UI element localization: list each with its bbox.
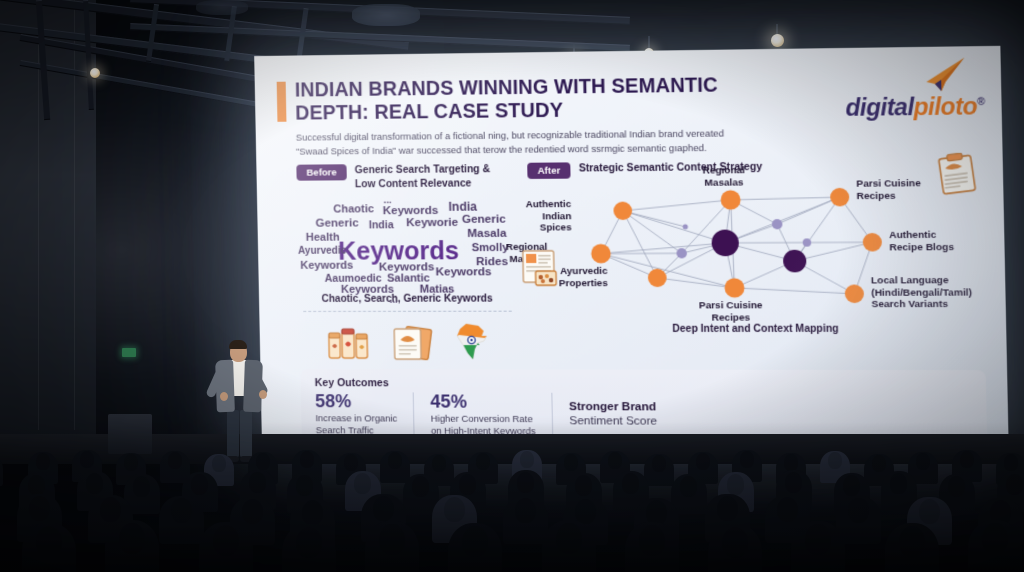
graph-node-label-line: (Hindi/Bengali/Tamil): [871, 287, 972, 299]
audience-member-head: [168, 452, 182, 469]
presenter-hair: [229, 340, 247, 349]
audience-member-head: [740, 451, 754, 468]
graph-node-label: Parsi CuisineRecipes: [856, 179, 921, 203]
slide-columns: Before Generic Search Targeting & Low Co…: [296, 159, 985, 362]
audience-member-head: [124, 454, 138, 471]
audience-member-head: [982, 523, 1008, 554]
audience-member-head: [919, 499, 940, 524]
presenter-jacket-left: [215, 360, 235, 413]
ceiling-panel: [352, 4, 420, 26]
graph-edge: [623, 200, 731, 211]
keyword-cloud-word: Keywords: [341, 284, 394, 296]
audience-member-body: [0, 454, 3, 486]
india-map-flag-icon: [453, 322, 490, 362]
audience-member-head: [1004, 454, 1018, 471]
graph-node-label-line: Parsi Cuisine: [856, 179, 921, 191]
audience-member-head: [727, 474, 744, 495]
audience-member-head: [652, 455, 666, 472]
audience-member-head: [717, 496, 738, 521]
subtitle-line-1: Successful digital transformation of a f…: [296, 128, 724, 143]
after-caption: Deep Intent and Context Mapping: [530, 324, 985, 335]
after-tag: After: [527, 163, 571, 180]
graph-node-label: AuthenticRecipe Blogs: [889, 230, 954, 254]
graph-node-label-line: Recipes: [712, 312, 751, 323]
audience-member-head: [432, 455, 446, 472]
recipe-documents-icon: [390, 324, 435, 362]
keyword-cloud-word: Keywords: [383, 205, 439, 217]
keyword-cloud-word: Chaotic: [333, 203, 374, 215]
audience-member-head: [517, 472, 534, 493]
keyword-cloud-word: Health: [306, 232, 340, 244]
audience-member-head: [300, 451, 314, 468]
spice-jars-icon: [326, 324, 373, 362]
keyword-cloud-word: Generic: [462, 214, 506, 226]
audience-member-head: [872, 455, 886, 472]
audience-member-head: [784, 454, 798, 471]
audience-member-head: [256, 453, 270, 470]
graph-node[interactable]: [683, 225, 688, 230]
graph-node-label-line: Regional: [703, 166, 746, 178]
audience-member-head: [191, 474, 208, 495]
graph-node[interactable]: [711, 230, 739, 257]
keyword-cloud-word: India: [448, 200, 477, 214]
graph-node[interactable]: [863, 233, 882, 252]
graph-node-label: RegionalMasalas: [703, 166, 746, 190]
subtitle-line-2: "Swaad Spices of India" war successed th…: [296, 142, 707, 157]
graph-node-label-line: Recipes: [856, 191, 895, 203]
audience-member-head: [608, 452, 622, 469]
audience-member-head: [444, 497, 465, 522]
logo-registered-mark: ®: [977, 97, 985, 108]
key-outcome-number: 58%: [315, 392, 397, 411]
graph-node-label-line: Authentic: [889, 230, 936, 242]
keyword-cloud-word: Ayurvedic: [298, 246, 346, 257]
before-heading: Generic Search Targeting & Low Content R…: [355, 164, 491, 192]
audience-member-head: [459, 474, 476, 495]
logo-word-piloto: piloto: [913, 93, 977, 121]
newspaper-spices-icon: [521, 248, 569, 289]
presenter-right-hand: [259, 390, 267, 399]
stage-light: [90, 68, 100, 78]
audience-member-head: [36, 526, 62, 557]
keyword-cloud-word: India: [369, 219, 394, 231]
presenter-left-hand: [220, 392, 228, 401]
audience: [0, 422, 1024, 572]
audience-member-head: [354, 473, 371, 494]
audience-member-head: [36, 453, 50, 470]
title-accent-bar: [277, 82, 287, 122]
audience-member-head: [86, 473, 103, 494]
audience-member-head: [171, 498, 192, 523]
keyword-cloud-word: Smolly: [472, 242, 509, 254]
key-outcome-highlight-line-1: Stronger Brand: [569, 401, 657, 415]
key-outcomes-title: Key Outcomes: [315, 377, 972, 391]
slide-title: INDIAN BRANDS WINNING WITH SEMANTIC DEPT…: [295, 74, 777, 125]
truss-post: [36, 0, 50, 120]
graph-node-label-line: Local Language: [871, 275, 949, 287]
audience-member-head: [476, 453, 490, 470]
before-column: Before Generic Search Targeting & Low Co…: [296, 163, 517, 362]
presentation-slide: digitalpiloto® INDIAN BRANDS WINNING WIT…: [254, 46, 1008, 442]
audience-member-head: [520, 451, 534, 468]
audience-member-head: [29, 496, 50, 521]
audience-member-head: [575, 475, 592, 496]
projection-screen: digitalpiloto® INDIAN BRANDS WINNING WIT…: [254, 46, 1008, 442]
audience-member-head: [777, 497, 798, 522]
ceiling-panel: [196, 0, 248, 15]
graph-edge: [623, 211, 657, 278]
graph-node-label-line: Indian Spices: [540, 211, 572, 234]
keyword-cloud-word: Masala: [467, 228, 506, 240]
graph-node[interactable]: [724, 279, 744, 298]
audience-member-head: [373, 496, 394, 521]
graph-node-label: Parsi CuisineRecipes: [699, 301, 763, 325]
audience-member-head: [1006, 474, 1023, 495]
audience-member-head: [805, 524, 831, 555]
audience-member-head: [556, 523, 582, 554]
before-header: Before Generic Search Targeting & Low Co…: [296, 163, 513, 191]
audience-member-head: [296, 475, 313, 496]
keyword-cloud: ...ChaoticKeywordsIndiaGenericIndiaKeywo…: [297, 194, 516, 292]
audience-member-head: [622, 473, 639, 494]
audience-member-head: [948, 476, 965, 497]
graph-edge: [601, 254, 735, 289]
audience-member-head: [80, 451, 94, 468]
audience-member-head: [916, 453, 930, 470]
stage-light: [771, 34, 784, 47]
audience-member-head: [680, 476, 697, 497]
audience-member-head: [388, 452, 402, 469]
before-heading-line-1: Generic Search Targeting &: [355, 165, 490, 177]
graph-node[interactable]: [613, 202, 632, 220]
audience-member-head: [828, 452, 842, 469]
audience-member-head: [28, 475, 45, 496]
audience-member-head: [212, 455, 226, 472]
keyword-cloud-word: Keywords: [300, 260, 353, 272]
keyword-cloud-word: Keywords: [435, 266, 491, 278]
graph-node-label-line: Parsi Cuisine: [699, 301, 763, 312]
key-outcome-number: 45%: [430, 392, 535, 411]
audience-member-head: [639, 525, 665, 556]
audience-member-head: [100, 497, 121, 522]
after-column: After Strategic Semantic Content Strateg…: [527, 159, 985, 362]
graph-edge: [623, 211, 686, 228]
logo-word-digital: digital: [845, 93, 914, 121]
audience-member-head: [302, 500, 323, 525]
graph-node[interactable]: [783, 250, 807, 273]
audience-member-head: [379, 524, 405, 555]
audience-member-head: [119, 523, 145, 554]
before-icon-row: [299, 322, 516, 363]
logo-wordmark: digitalpiloto®: [845, 93, 984, 122]
audience-member-head: [785, 472, 802, 493]
audience-member-head: [564, 454, 578, 471]
audience-member-head: [843, 475, 860, 496]
brand-logo: digitalpiloto®: [845, 56, 985, 122]
keyword-cloud-word: Generic: [315, 217, 358, 229]
audience-member-head: [242, 499, 263, 524]
before-heading-line-2: Low Content Relevance: [355, 178, 472, 190]
audience-member-head: [696, 453, 710, 470]
truss-post: [83, 0, 94, 110]
graph-node-label-line: Search Variants: [871, 299, 948, 310]
graph-node[interactable]: [830, 188, 849, 207]
audience-member-head: [848, 498, 869, 523]
presenter-jacket-right: [243, 360, 263, 413]
recipe-clipboard-icon: [936, 153, 984, 197]
graph-edge: [735, 288, 855, 294]
keyword-cloud-word: ...: [389, 295, 397, 306]
graph-node[interactable]: [845, 285, 864, 304]
conference-stage-scene: digitalpiloto® INDIAN BRANDS WINNING WIT…: [0, 0, 1024, 572]
audience-member-head: [890, 473, 907, 494]
graph-edge: [731, 198, 840, 201]
before-tag: Before: [296, 165, 347, 181]
audience-member-head: [722, 527, 748, 558]
graph-edge: [657, 278, 734, 288]
audience-member-head: [344, 454, 358, 471]
graph-node-label: AuthenticIndian Spices: [526, 199, 572, 234]
paper-plane-icon: [909, 57, 969, 93]
audience-member-head: [515, 498, 536, 523]
graph-node-label-line: Masalas: [704, 177, 743, 189]
audience-member-head: [462, 526, 488, 557]
graph-node[interactable]: [721, 191, 741, 211]
after-header: After Strategic Semantic Content Strateg…: [527, 159, 981, 179]
keyword-cloud-word: Keyworie: [406, 217, 458, 229]
truss-beam: [130, 23, 630, 52]
audience-member-head: [412, 476, 429, 497]
audience-member-head: [133, 476, 150, 497]
audience-member-head: [213, 525, 239, 556]
graph-node-label-line: Recipe Blogs: [889, 242, 954, 254]
audience-member-head: [960, 451, 974, 468]
divider-dashed: [303, 311, 512, 312]
slide-subtitle: Successful digital transformation of a f…: [296, 124, 958, 158]
audience-member-head: [296, 527, 322, 558]
audience-member-head: [899, 526, 925, 557]
semantic-graph: AuthenticIndian SpicesRegionalMasalasPar…: [528, 178, 985, 323]
graph-node[interactable]: [591, 244, 611, 263]
keyword-cloud-word: Matias: [420, 283, 455, 295]
graph-node-label: Local Language(Hindi/Bengali/Tamil)Searc…: [871, 275, 972, 311]
graph-node-label-line: Authentic: [526, 199, 572, 210]
audience-member-head: [249, 472, 266, 493]
exit-sign: [122, 348, 136, 357]
before-caption: Chaotic, Search, Generic Keywords: [299, 293, 516, 304]
